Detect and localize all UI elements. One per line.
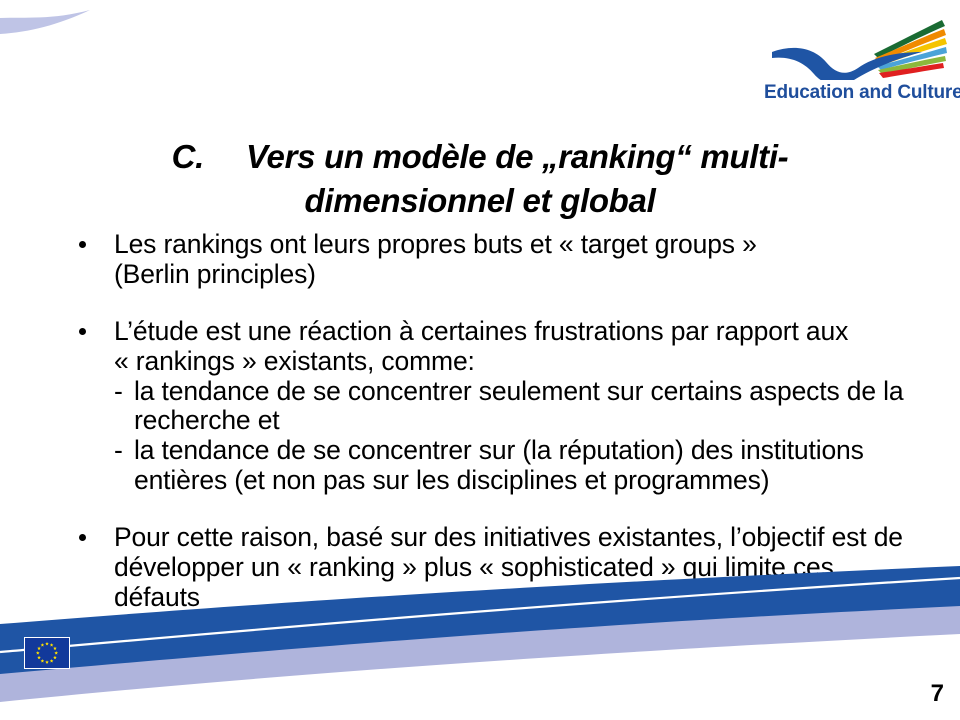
bullet-item: L’étude est une réaction à certaines fru…	[72, 317, 952, 495]
sub-bullet-line: entières (et non pas sur les disciplines…	[134, 466, 952, 496]
corner-swoosh-decoration	[0, 8, 95, 48]
slide-canvas: Education and Culture C.Vers un modèle d…	[0, 0, 960, 720]
bullet-line: « rankings » existants, comme:	[114, 347, 952, 377]
sub-bullet-line: la tendance de se concentrer seulement s…	[134, 377, 952, 407]
logo-bird-mark-icon	[762, 8, 948, 80]
slide-title: C.Vers un modèle de „ranking“ multi-dime…	[95, 135, 865, 223]
bullet-line: défauts	[114, 583, 952, 613]
bullet-line: Pour cette raison, basé sur des initiati…	[114, 523, 952, 553]
bullet-dot-icon	[79, 241, 86, 248]
bullet-dot-icon	[79, 328, 86, 335]
bullet-line: Les rankings ont leurs propres buts et «…	[114, 230, 952, 260]
dash-marker: -	[114, 377, 123, 407]
bullet-line: développer un « ranking » plus « sophist…	[114, 553, 952, 583]
eu-flag-icon	[24, 637, 70, 669]
dash-marker: -	[114, 436, 123, 466]
title-text: Vers un modèle de „ranking“ multi-dimens…	[246, 138, 788, 219]
sub-bullet-line: la tendance de se concentrer sur (la rép…	[134, 436, 952, 466]
slide-body: Les rankings ont leurs propres buts et «…	[72, 230, 952, 612]
bullet-item: Pour cette raison, basé sur des initiati…	[72, 523, 952, 612]
logo-caption: Education and Culture	[764, 82, 948, 104]
page-number: 7	[931, 680, 944, 708]
bullet-item: Les rankings ont leurs propres buts et «…	[72, 230, 952, 289]
education-and-culture-logo: Education and Culture	[762, 8, 948, 108]
sub-bullet-item: - la tendance de se concentrer sur (la r…	[114, 436, 952, 495]
bullet-line: L’étude est une réaction à certaines fru…	[114, 317, 952, 347]
bullet-dot-icon	[79, 534, 86, 541]
title-number: C.	[172, 138, 204, 175]
sub-bullet-item: - la tendance de se concentrer seulement…	[114, 377, 952, 436]
sub-bullet-list: - la tendance de se concentrer seulement…	[114, 377, 952, 496]
bullet-line: (Berlin principles)	[114, 260, 952, 290]
sub-bullet-line: recherche et	[134, 406, 952, 436]
